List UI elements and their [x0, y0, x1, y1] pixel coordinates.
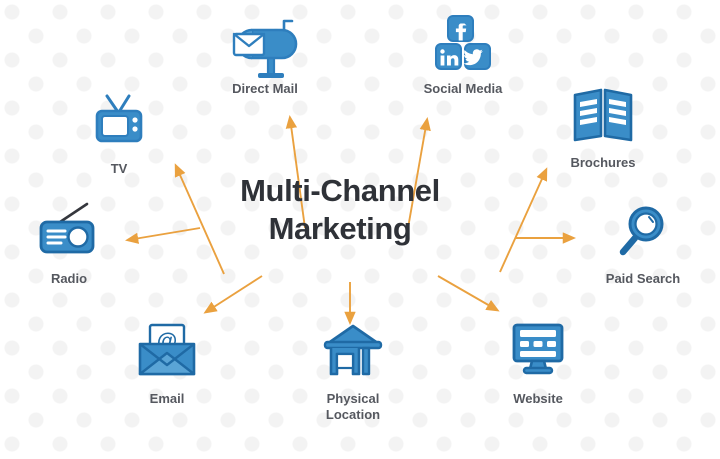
- tv-icon: [54, 92, 184, 154]
- node-direct-mail[interactable]: Direct Mail: [200, 12, 330, 97]
- node-label-direct-mail: Direct Mail: [200, 81, 330, 97]
- node-label-paid-search: Paid Search: [578, 271, 708, 287]
- magnifying-glass-icon: [578, 202, 708, 264]
- facebook-icon: [448, 16, 473, 41]
- social-media-icon: [398, 12, 528, 74]
- node-label-social-media: Social Media: [398, 81, 528, 97]
- node-label-radio: Radio: [4, 271, 134, 287]
- node-social-media[interactable]: Social Media: [398, 12, 528, 97]
- node-email[interactable]: @ Email: [102, 322, 232, 407]
- envelope-at-icon: @: [102, 322, 232, 384]
- node-label-brochures: Brochures: [538, 155, 668, 171]
- node-label-email: Email: [102, 391, 232, 407]
- center-title: Multi-Channel Marketing: [190, 172, 490, 249]
- linkedin-icon: [436, 44, 461, 69]
- mailbox-icon: [200, 12, 330, 74]
- node-paid-search[interactable]: Paid Search: [578, 202, 708, 287]
- twitter-icon: [463, 44, 490, 69]
- center-title-line-1: Multi-Channel: [240, 173, 440, 208]
- node-radio[interactable]: Radio: [4, 202, 134, 287]
- node-website[interactable]: Website: [473, 322, 603, 407]
- radio-icon: [4, 202, 134, 264]
- node-label-website: Website: [473, 391, 603, 407]
- center-title-line-2: Marketing: [269, 211, 412, 246]
- node-tv[interactable]: TV: [54, 92, 184, 177]
- node-brochures[interactable]: Brochures: [538, 86, 668, 171]
- arrow-to-website: [438, 276, 497, 310]
- arrow-to-brochures: [500, 170, 546, 272]
- node-label-tv: TV: [54, 161, 184, 177]
- diagram-canvas: Multi-Channel Marketing TV: [0, 0, 720, 459]
- node-physical-location[interactable]: Physical Location: [288, 322, 418, 424]
- storefront-icon: [288, 322, 418, 384]
- monitor-icon: [473, 322, 603, 384]
- node-label-physical-location: Physical Location: [288, 391, 418, 424]
- arrow-to-email: [206, 276, 262, 312]
- open-book-icon: [538, 86, 668, 148]
